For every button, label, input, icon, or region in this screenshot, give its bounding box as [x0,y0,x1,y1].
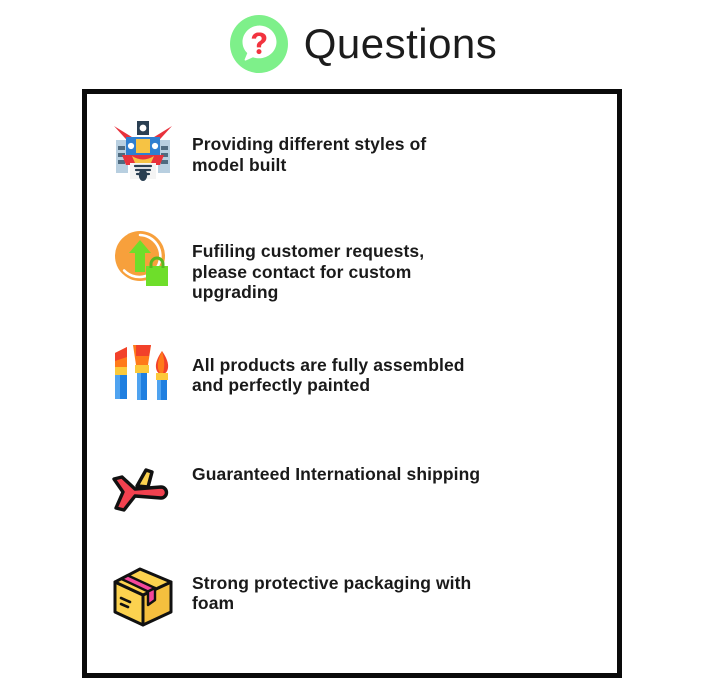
questions-list: Providing different styles of model buil… [87,94,617,673]
list-item: Strong protective packaging with foam [110,560,603,663]
list-item: Fufiling customer requests, please conta… [110,222,603,337]
list-item-label: Fufiling customer requests, please conta… [192,241,482,303]
upgrade-arrow-shopping-bag-icon [110,225,176,291]
list-item-label: Guaranteed International shipping [192,464,480,485]
list-item: All products are fully assembled and per… [110,337,603,450]
list-item-label: Strong protective packaging with foam [192,573,482,614]
list-item-label: All products are fully assembled and per… [192,355,482,396]
paint-brushes-icon [110,339,176,405]
page-title: Questions [304,23,498,65]
package-box-icon [110,564,176,630]
questions-frame: Providing different styles of model buil… [82,89,622,678]
airplane-icon [110,458,176,524]
list-item-label: Providing different styles of model buil… [192,134,482,175]
page-header: Questions [0,8,727,80]
question-mark-speech-bubble-icon [230,15,288,73]
gundam-robot-head-icon [110,117,176,183]
questions-infographic: Questions [0,0,727,700]
list-item: Guaranteed International shipping [110,450,603,560]
list-item: Providing different styles of model buil… [110,112,603,222]
